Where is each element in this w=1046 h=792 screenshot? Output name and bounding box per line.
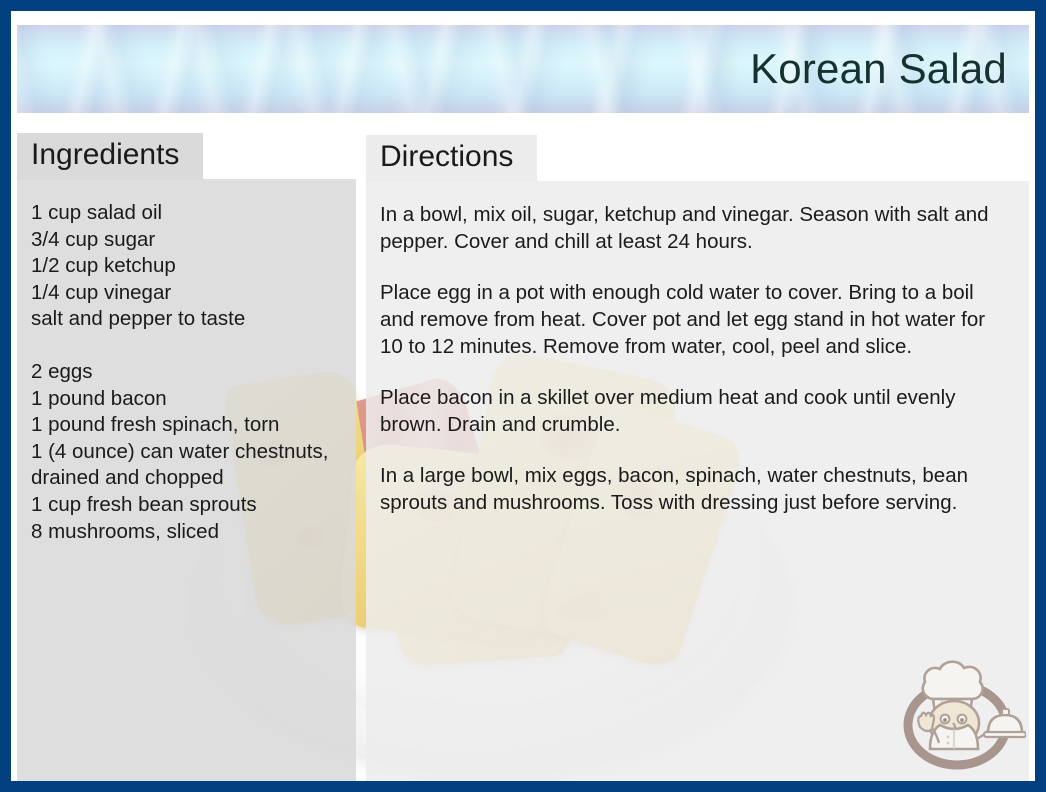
ingredient-item: 3/4 cup sugar: [31, 227, 346, 254]
direction-step: Place bacon in a skillet over medium hea…: [380, 384, 1013, 438]
recipe-slide: Korean Salad Ingredients 1 cup salad oil…: [0, 0, 1046, 792]
ingredient-item: salt and pepper to taste: [31, 306, 346, 333]
page-title: Korean Salad: [750, 45, 1007, 93]
direction-step: Place egg in a pot with enough cold wate…: [380, 279, 1013, 360]
ingredient-group: 1 cup salad oil 3/4 cup sugar 1/2 cup ke…: [31, 200, 346, 333]
slide-inner: Korean Salad Ingredients 1 cup salad oil…: [11, 11, 1035, 781]
direction-list: In a bowl, mix oil, sugar, ketchup and v…: [366, 181, 1029, 516]
tab-directions[interactable]: Directions: [366, 135, 537, 182]
ingredient-item: 8 mushrooms, sliced: [31, 519, 346, 546]
ingredient-item: 1/4 cup vinegar: [31, 280, 346, 307]
tab-ingredients[interactable]: Ingredients: [17, 133, 203, 180]
direction-step: In a large bowl, mix eggs, bacon, spinac…: [380, 462, 1013, 516]
ingredient-group: 2 eggs 1 pound bacon 1 pound fresh spina…: [31, 359, 346, 545]
ingredient-item: 1 pound bacon: [31, 386, 346, 413]
ingredient-item: 1 cup salad oil: [31, 200, 346, 227]
ingredient-item: 1 cup fresh bean sprouts: [31, 492, 346, 519]
direction-step: In a bowl, mix oil, sugar, ketchup and v…: [380, 201, 1013, 255]
title-banner: Korean Salad: [17, 25, 1029, 113]
ingredient-item: 1/2 cup ketchup: [31, 253, 346, 280]
chef-mascot-logo: [898, 651, 1026, 773]
ingredient-item: 2 eggs: [31, 359, 346, 386]
ingredient-item: 1 pound fresh spinach, torn: [31, 412, 346, 439]
ingredient-list: 1 cup salad oil 3/4 cup sugar 1/2 cup ke…: [17, 179, 356, 545]
ingredients-panel: 1 cup salad oil 3/4 cup sugar 1/2 cup ke…: [17, 179, 356, 781]
ingredient-item: 1 (4 ounce) can water chestnuts, drained…: [31, 439, 346, 492]
